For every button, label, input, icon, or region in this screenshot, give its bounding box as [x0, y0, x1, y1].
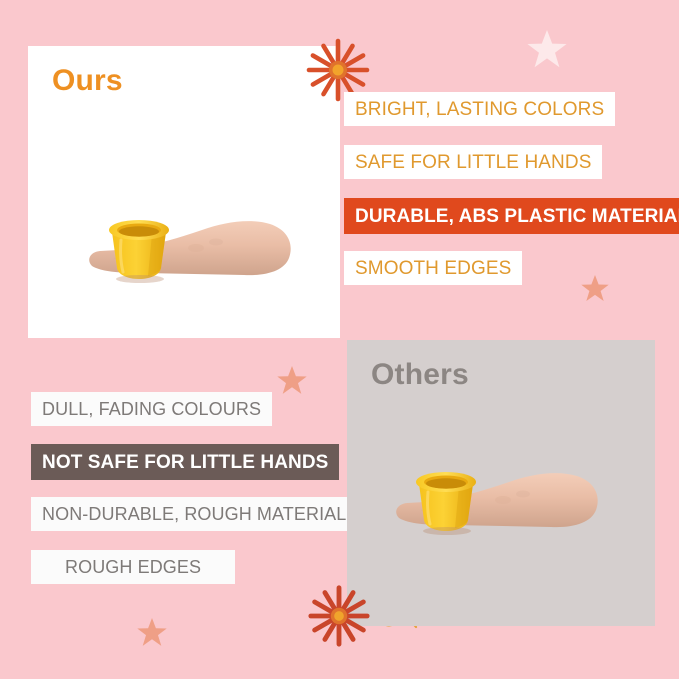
others-feature-row-4[interactable]: ROUGH EDGES [31, 550, 235, 584]
others-feature-label-4: ROUGH EDGES [65, 558, 201, 576]
star-mid-right-icon [581, 275, 609, 303]
others-feature-label-3: NON-DURABLE, ROUGH MATERIAL [42, 505, 346, 523]
others-panel-title: Others [371, 358, 469, 392]
ours-feature-label-1: BRIGHT, LASTING COLORS [355, 100, 604, 119]
others-feature-label-1: DULL, FADING COLOURS [42, 400, 261, 418]
others-product-photo [391, 448, 605, 544]
ours-feature-label-3: DURABLE, ABS PLASTIC MATERIAL [355, 207, 679, 226]
ours-feature-label-2: SAFE FOR LITTLE HANDS [355, 153, 591, 172]
others-panel: Others [347, 340, 655, 626]
ours-product-photo [84, 196, 298, 292]
ours-feature-row-1[interactable]: BRIGHT, LASTING COLORS [344, 92, 615, 126]
star-bottom-left-icon [137, 618, 167, 648]
ours-feature-row-3-highlighted[interactable]: DURABLE, ABS PLASTIC MATERIAL [344, 198, 679, 234]
ours-panel-title: Ours [52, 64, 123, 98]
infographic-canvas: Ours [0, 0, 679, 679]
others-feature-label-2: NOT SAFE FOR LITTLE HANDS [42, 453, 328, 472]
ours-panel: Ours [28, 46, 340, 338]
others-feature-row-1[interactable]: DULL, FADING COLOURS [31, 392, 272, 426]
star-top-right-icon [527, 30, 567, 70]
ours-feature-label-4: SMOOTH EDGES [355, 259, 511, 278]
star-mid-left-icon [277, 366, 307, 396]
ours-feature-row-4[interactable]: SMOOTH EDGES [344, 251, 522, 285]
others-feature-row-3[interactable]: NON-DURABLE, ROUGH MATERIAL [31, 497, 357, 531]
others-feature-row-2-highlighted[interactable]: NOT SAFE FOR LITTLE HANDS [31, 444, 339, 480]
ours-feature-row-2[interactable]: SAFE FOR LITTLE HANDS [344, 145, 602, 179]
